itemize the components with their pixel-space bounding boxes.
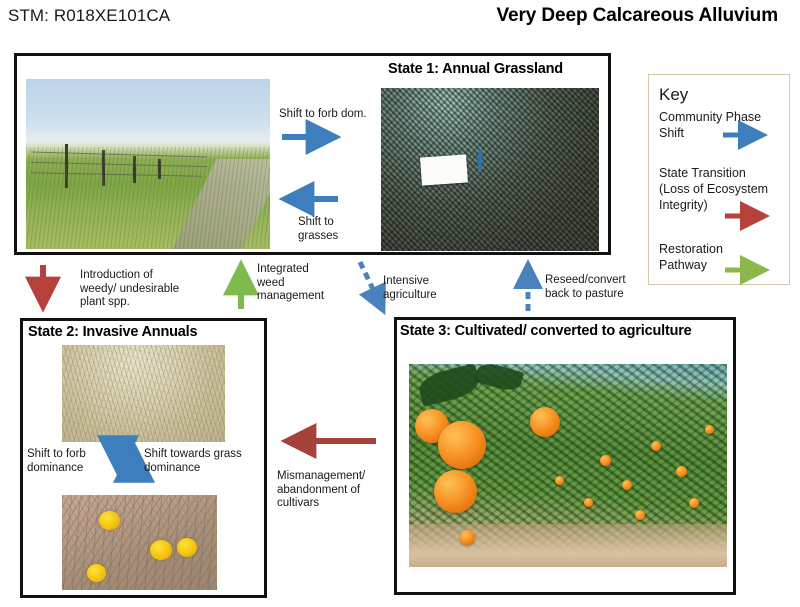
integrated-weed-mgmt-label: Integrated weed management [257, 263, 324, 304]
thistle-bloom [177, 538, 197, 557]
restoration-arrow-reseed-convert [519, 261, 545, 315]
key-title: Key [659, 85, 688, 105]
key-restoration-pathway-arrow-icon [724, 263, 778, 279]
intro-weedy-label: Introduction of weedy/ undesirable plant… [80, 269, 179, 310]
plot-data-card [420, 155, 468, 186]
orange-fruit [555, 476, 564, 485]
restoration-arrow-integrated-weed-mgmt [232, 261, 258, 315]
thatch-texture [62, 345, 225, 442]
state-3-title: State 3: Cultivated/ converted to agricu… [400, 323, 692, 339]
key-state-transition-arrow-icon [724, 209, 778, 225]
stm-diagram-canvas: STM: R018XE101CA Very Deep Calcareous Al… [0, 0, 800, 607]
state-transition-arrow-mismanagement [278, 432, 388, 454]
orange-fruit [530, 407, 560, 437]
orange-fruit [622, 480, 632, 490]
orange-fruit [438, 421, 486, 469]
orange-fruit [434, 470, 477, 513]
orange-fruit [676, 466, 687, 477]
key-entry-restoration-pathway-label: Restoration Pathway [659, 241, 723, 273]
orange-fruit [584, 498, 593, 507]
shift-towards-grass-dominance-label: Shift towards grass dominance [144, 448, 262, 475]
forb-plot-photo [381, 88, 599, 251]
state-1-title: State 1: Annual Grassland [388, 61, 563, 77]
grass-texture [26, 147, 270, 249]
state-transition-arrow-intro-weedy [34, 263, 60, 315]
key-entry-state-transition-label: State Transition (Loss of Ecosystem Inte… [659, 165, 768, 213]
phase-shift-arrow-to-grass-dominance [126, 444, 146, 480]
shift-to-forb-dominance-label: Shift to forb dominance [27, 448, 117, 475]
phase-shift-arrow-to-grasses [280, 190, 350, 212]
orchard-ground [409, 524, 727, 567]
phase-shift-arrow-to-forb [280, 128, 350, 150]
ecological-site-title: Very Deep Calcareous Alluvium [496, 5, 778, 27]
shift-to-forb-label: Shift to forb dom. [279, 108, 367, 122]
orange-grove-photo [409, 364, 727, 567]
forb-texture [381, 88, 599, 251]
key-community-phase-shift-arrow-icon [722, 128, 776, 144]
intensive-agriculture-label: Intensive agriculture [383, 275, 437, 302]
orange-fruit [651, 441, 661, 451]
reseed-convert-label: Reseed/convert back to pasture [545, 274, 626, 301]
shift-to-grasses-label: Shift to grasses [298, 216, 338, 243]
invasive-thatch-photo [62, 345, 225, 442]
plot-marker-flag [478, 150, 482, 170]
orange-fruit [689, 498, 699, 508]
orange-fruit [705, 425, 714, 434]
yellow-starthistle-photo [62, 495, 217, 590]
stm-identifier: STM: R018XE101CA [8, 6, 170, 26]
orange-fruit [635, 510, 645, 520]
grassland-photo [26, 79, 270, 249]
mismanagement-label: Mismanagement/ abandonment of cultivars [277, 470, 365, 511]
state-2-title: State 2: Invasive Annuals [28, 324, 197, 340]
thistle-bloom [150, 540, 172, 560]
